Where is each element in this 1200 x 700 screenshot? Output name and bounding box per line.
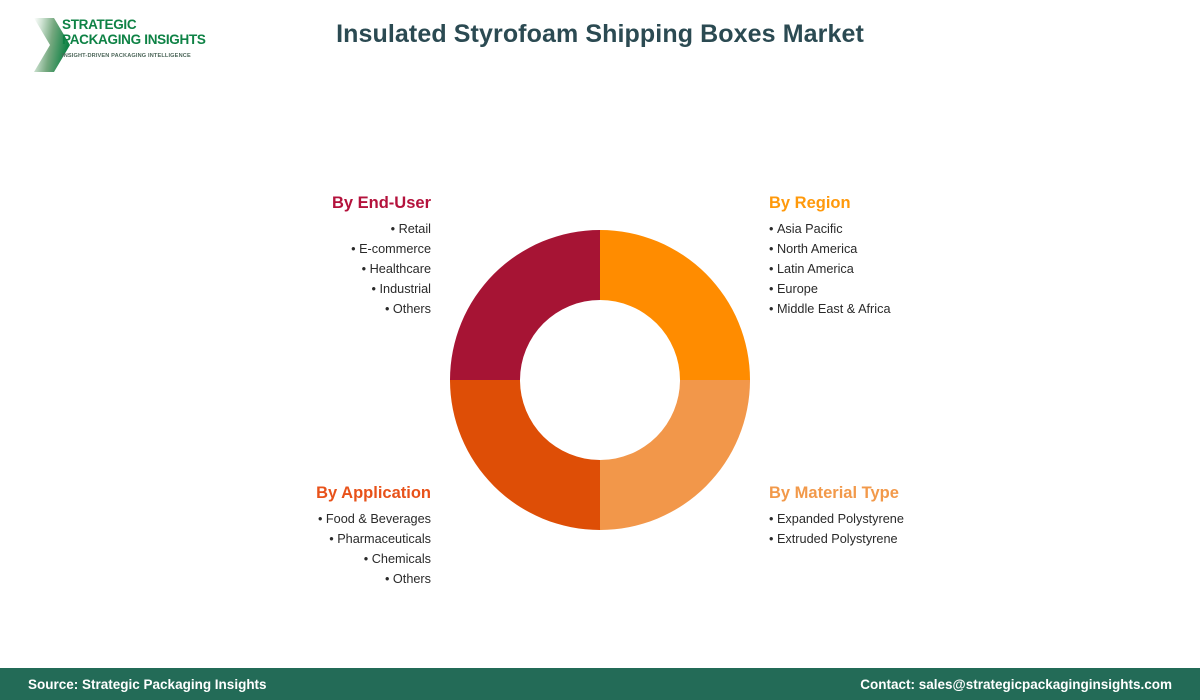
segment-list-application: Food & Beverages Pharmaceuticals Chemica… [100,509,431,589]
list-item: Food & Beverages [100,509,431,529]
list-item: Expanded Polystyrene [769,509,1089,529]
segment-block-region: By Region Asia Pacific North America Lat… [769,193,1089,319]
list-item: Chemicals [100,549,431,569]
list-item: Europe [769,279,1089,299]
list-item: Middle East & Africa [769,299,1089,319]
page-title: Insulated Styrofoam Shipping Boxes Marke… [0,20,1200,49]
donut-slice-material-type [600,380,750,530]
segment-list-material-type: Expanded Polystyrene Extruded Polystyren… [769,509,1089,549]
list-item: Industrial [160,279,431,299]
list-item: Healthcare [160,259,431,279]
brand-tagline: INSIGHT-DRIVEN PACKAGING INTELLIGENCE [62,53,212,59]
segment-heading-material-type: By Material Type [769,483,1089,503]
list-item: Extruded Polystyrene [769,529,1089,549]
list-item: Retail [160,219,431,239]
segment-heading-region: By Region [769,193,1089,213]
segment-list-region: Asia Pacific North America Latin America… [769,219,1089,319]
list-item: Others [100,569,431,589]
list-item: North America [769,239,1089,259]
list-item: Pharmaceuticals [100,529,431,549]
donut-chart [450,230,750,530]
segment-list-end-user: Retail E-commerce Healthcare Industrial … [160,219,431,319]
list-item: Others [160,299,431,319]
donut-slice-end-user [450,230,600,380]
list-item: E-commerce [160,239,431,259]
list-item: Asia Pacific [769,219,1089,239]
footer-source: Source: Strategic Packaging Insights [28,677,267,692]
segment-block-end-user: By End-User Retail E-commerce Healthcare… [160,193,431,319]
footer-bar: Source: Strategic Packaging Insights Con… [0,668,1200,700]
segment-heading-application: By Application [100,483,431,503]
footer-contact: Contact: sales@strategicpackaginginsight… [860,677,1172,692]
segment-block-material-type: By Material Type Expanded Polystyrene Ex… [769,483,1089,549]
donut-slice-application [450,380,600,530]
list-item: Latin America [769,259,1089,279]
segment-block-application: By Application Food & Beverages Pharmace… [100,483,431,589]
segment-heading-end-user: By End-User [160,193,431,213]
donut-slice-region [600,230,750,380]
